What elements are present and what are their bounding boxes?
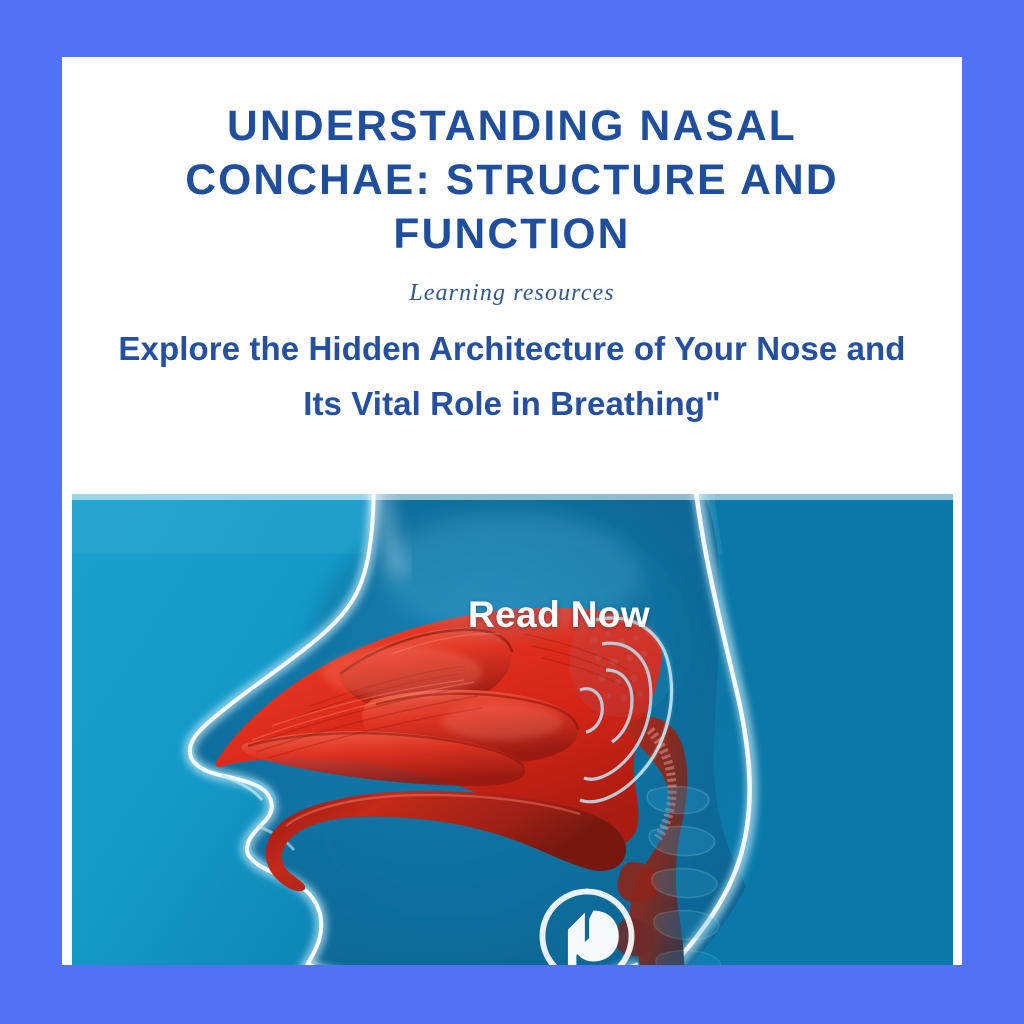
hero-image (72, 494, 953, 965)
text-block: Understanding Nasal Conchae: Structure a… (62, 57, 962, 494)
head-cross-section-illustration (72, 494, 953, 965)
concha-specular (322, 646, 482, 698)
description-text: Explore the Hidden Architecture of Your … (114, 321, 910, 431)
hero-top-fade (72, 494, 953, 500)
content-card: Understanding Nasal Conchae: Structure a… (62, 57, 962, 965)
logo-p-circle-glyph (534, 883, 640, 965)
eyebrow-label: Learning resources (114, 280, 910, 307)
outer-frame: Understanding Nasal Conchae: Structure a… (0, 0, 1024, 1024)
page-title: Understanding Nasal Conchae: Structure a… (114, 100, 910, 262)
read-now-cta[interactable]: Read Now (468, 594, 650, 636)
concha-specular-2 (442, 704, 562, 740)
logo-p-circle-icon (534, 883, 640, 965)
